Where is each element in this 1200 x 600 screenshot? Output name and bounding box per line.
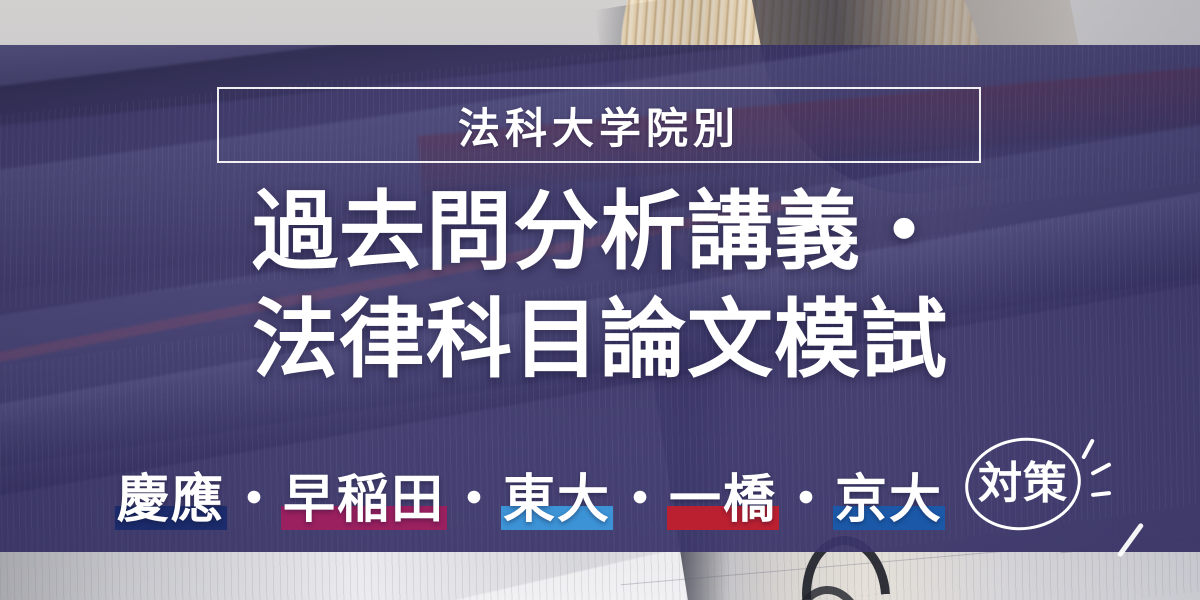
school-list: 慶應 ・ 早稲田 ・ 東大 ・ 一橋 ・ <box>0 436 1200 532</box>
school-row: 慶應 ・ 早稲田 ・ 東大 ・ 一橋 ・ <box>115 436 1085 532</box>
school-name: 早稲田 <box>283 469 445 530</box>
school-keio: 慶應 <box>115 468 227 532</box>
school-name: 京大 <box>835 469 943 530</box>
sparkle-icon <box>1090 462 1111 476</box>
school-separator: ・ <box>613 468 667 532</box>
banner-content: 法科大学院別 過去問分析講義・ 法律科目論文模試 慶應 ・ 早稲田 ・ <box>0 0 1200 600</box>
school-waseda: 早稲田 <box>281 468 447 532</box>
headline-line-2: 法律科目論文模試 <box>0 286 1200 394</box>
school-separator: ・ <box>227 468 281 532</box>
school-todai: 東大 <box>501 468 613 532</box>
sparkle-icon <box>1081 438 1095 459</box>
school-name: 慶應 <box>117 469 225 530</box>
sparkle-icon <box>1091 491 1111 497</box>
kicker-box: 法科大学院別 <box>217 87 981 163</box>
headline-line-1: 過去問分析講義・ <box>0 178 1200 286</box>
taisaku-badge: 対策 <box>961 436 1085 532</box>
school-kyodai: 京大 <box>833 468 945 532</box>
school-separator: ・ <box>779 468 833 532</box>
school-separator: ・ <box>447 468 501 532</box>
badge-label: 対策 <box>978 458 1068 510</box>
kicker-text: 法科大学院別 <box>458 95 740 156</box>
school-name: 一橋 <box>669 469 777 530</box>
promo-banner: 法科大学院別 過去問分析講義・ 法律科目論文模試 慶應 ・ 早稲田 ・ <box>0 0 1200 600</box>
school-name: 東大 <box>503 469 611 530</box>
school-hitotsubashi: 一橋 <box>667 468 779 532</box>
headline: 過去問分析講義・ 法律科目論文模試 <box>0 178 1200 394</box>
